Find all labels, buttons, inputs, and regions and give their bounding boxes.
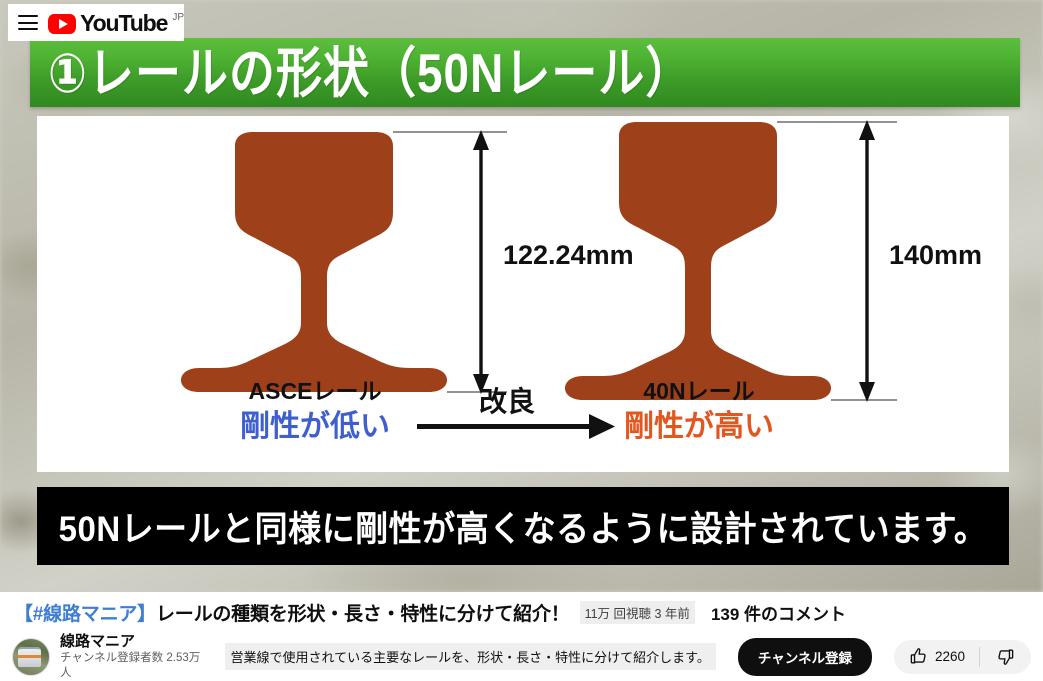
- asce-stiffness-label: 剛性が低い: [240, 409, 390, 443]
- asce-dimension-label: 122.24mm: [503, 240, 634, 270]
- channel-name[interactable]: 線路マニア: [60, 633, 203, 651]
- forty-n-dimension-arrow: [859, 120, 875, 402]
- video-title[interactable]: 【#線路マニア】レールの種類を形状・長さ・特性に分けて紹介！: [14, 599, 570, 626]
- like-count: 2260: [935, 649, 965, 664]
- hamburger-menu-icon[interactable]: [18, 15, 38, 30]
- video-player[interactable]: ①レールの形状（50Nレール）: [0, 0, 1043, 592]
- video-description-chip[interactable]: 営業線で使用されている主要なレールを、形状・長さ・特性に分けて紹介します。: [225, 643, 716, 670]
- channel-avatar[interactable]: [12, 638, 50, 676]
- rail-comparison-diagram: 122.24mm 140mm ASCEレール 剛性が低い 40Nレール: [37, 116, 1009, 472]
- video-subtitle-bar: 50Nレールと同様に剛性が高くなるように設計されています。: [37, 487, 1009, 565]
- video-title-rest: レールの種類を形状・長さ・特性に分けて紹介！: [156, 604, 570, 625]
- youtube-watch-page: ①レールの形状（50Nレール）: [0, 0, 1043, 681]
- thumbs-up-icon: [909, 647, 928, 666]
- channel-subscriber-count: チャンネル登録者数 2.53万人: [60, 651, 203, 681]
- subscribe-button[interactable]: チャンネル登録: [738, 638, 872, 676]
- youtube-play-icon: [48, 14, 76, 34]
- youtube-logo-text: YouTube: [80, 12, 167, 34]
- youtube-logo[interactable]: YouTube JP: [48, 12, 184, 34]
- channel-row: 線路マニア チャンネル登録者数 2.53万人 営業線で使用されている主要なレール…: [0, 632, 1043, 681]
- channel-meta: 線路マニア チャンネル登録者数 2.53万人: [60, 633, 203, 681]
- video-title-hashtag[interactable]: 【#線路マニア】: [14, 604, 156, 625]
- forty-n-rail-name: 40Nレール: [643, 378, 754, 404]
- improvement-label: 改良: [479, 385, 535, 417]
- like-dislike-pill: 2260: [894, 640, 1031, 674]
- forty-n-stiffness-label: 剛性が高い: [624, 409, 774, 443]
- video-subtitle-text: 50Nレールと同様に剛性が高くなるように設計されています。: [59, 501, 988, 552]
- video-meta-row: 【#線路マニア】レールの種類を形状・長さ・特性に分けて紹介！ 11万 回視聴 3…: [0, 594, 1043, 630]
- asce-rail-name: ASCEレール: [249, 378, 382, 404]
- slide-banner-title: ①レールの形状（50Nレール）: [30, 45, 692, 99]
- asce-dimension-arrow: [473, 130, 489, 394]
- slide-banner: ①レールの形状（50Nレール）: [30, 38, 1020, 107]
- youtube-header-overlay: YouTube JP: [8, 4, 184, 41]
- like-button[interactable]: 2260: [894, 647, 979, 666]
- thumbs-down-icon: [996, 647, 1015, 666]
- view-count-chip: 11万 回視聴 3 年前: [580, 601, 695, 624]
- dislike-button[interactable]: [980, 647, 1031, 666]
- forty-n-dimension-label: 140mm: [889, 240, 982, 270]
- youtube-country-code: JP: [172, 13, 184, 23]
- rail-diagram-panel: 122.24mm 140mm ASCEレール 剛性が低い 40Nレール: [37, 116, 1009, 472]
- comment-count-label: 139 件のコメント: [711, 600, 846, 625]
